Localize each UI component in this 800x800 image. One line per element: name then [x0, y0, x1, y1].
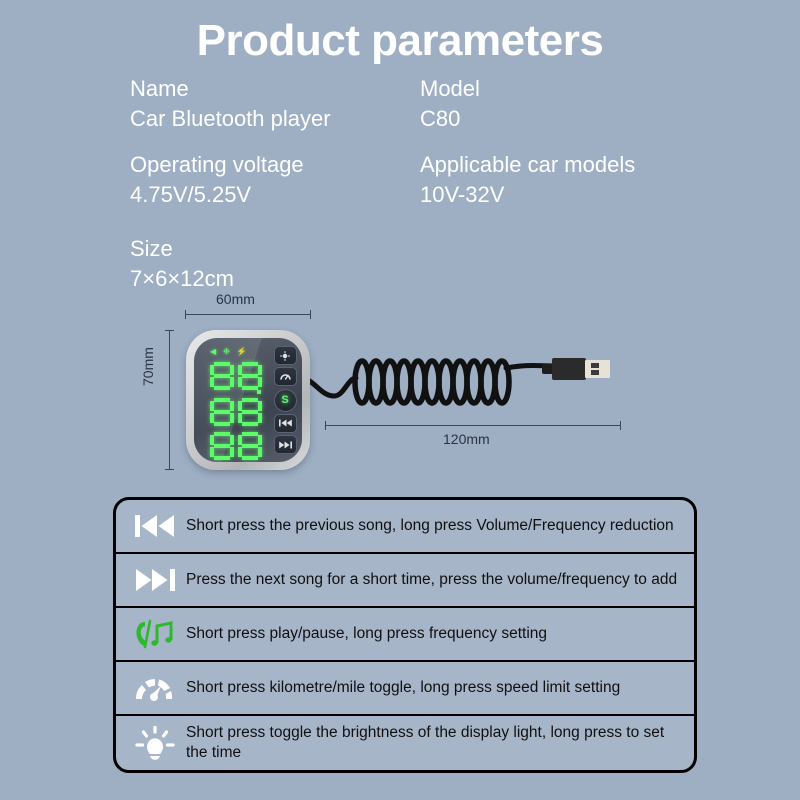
- spec-cell-car-models: Applicable car models 10V-32V: [420, 150, 710, 210]
- spec-value: 10V-32V: [420, 180, 710, 210]
- instruction-row: Press the next song for a short time, pr…: [116, 554, 694, 608]
- lcd-row-1: [210, 362, 262, 390]
- speedometer-icon: [280, 372, 291, 381]
- width-dimension-cap-right: [310, 310, 311, 319]
- device-brightness-button[interactable]: [274, 346, 297, 365]
- device-button-column: S: [272, 346, 298, 454]
- indicator-battery-icon: ⚡: [237, 348, 247, 356]
- width-dimension-cap-left: [185, 310, 186, 319]
- device-previous-button[interactable]: [274, 414, 297, 433]
- spec-row: Operating voltage 4.75V/5.25V Applicable…: [130, 150, 710, 210]
- screen-indicators: ◀ ❉ ⚡: [210, 348, 247, 356]
- lcd-digit: [210, 362, 234, 390]
- device-face: ◀ ❉ ⚡: [194, 338, 302, 462]
- previous-track-icon: [279, 419, 292, 427]
- instruction-text: Short press kilometre/mile toggle, long …: [184, 678, 620, 698]
- usb-slot-upper: [591, 363, 599, 368]
- size-block: Size 7×6×12cm: [130, 234, 234, 294]
- instruction-text: Short press play/pause, long press frequ…: [184, 624, 547, 644]
- width-dimension-line: [185, 314, 311, 315]
- brightness-bulb-icon: [126, 723, 184, 763]
- call-music-icon: [126, 614, 184, 654]
- speedometer-icon: [126, 668, 184, 708]
- next-track-icon: [126, 560, 184, 600]
- lcd-row-3: [210, 432, 262, 460]
- lcd-screen: ◀ ❉ ⚡: [200, 344, 270, 456]
- lcd-digit: [238, 398, 262, 426]
- device-play-pause-button[interactable]: S: [274, 389, 297, 412]
- instruction-row: Short press kilometre/mile toggle, long …: [116, 662, 694, 716]
- indicator-fan-icon: ❉: [223, 348, 230, 356]
- height-dimension-cap-bottom: [165, 469, 174, 470]
- spec-cell-voltage: Operating voltage 4.75V/5.25V: [130, 150, 420, 210]
- size-value: 7×6×12cm: [130, 264, 234, 294]
- lcd-digit: [238, 362, 262, 390]
- spec-value: C80: [420, 104, 710, 134]
- instruction-row: Short press the previous song, long pres…: [116, 500, 694, 554]
- spec-label: Model: [420, 74, 710, 104]
- lcd-digit: [238, 432, 262, 460]
- previous-track-icon: [126, 506, 184, 546]
- instruction-text: Short press the previous song, long pres…: [184, 516, 674, 536]
- height-dimension-line: [169, 330, 170, 470]
- spec-label: Applicable car models: [420, 150, 710, 180]
- instruction-row: Short press play/pause, long press frequ…: [116, 608, 694, 662]
- usb-a-connector: [552, 358, 610, 380]
- instruction-row: Short press toggle the brightness of the…: [116, 716, 694, 770]
- device-body: ◀ ❉ ⚡: [186, 330, 310, 470]
- size-label: Size: [130, 234, 234, 264]
- usb-housing: [552, 358, 586, 380]
- brightness-icon: [280, 351, 290, 361]
- spec-row: Name Car Bluetooth player Model C80: [130, 74, 710, 134]
- lcd-digit: [210, 398, 234, 426]
- spec-cell-name: Name Car Bluetooth player: [130, 74, 420, 134]
- instruction-text: Press the next song for a short time, pr…: [184, 570, 677, 590]
- device-next-button[interactable]: [274, 435, 297, 454]
- spec-value: Car Bluetooth player: [130, 104, 420, 134]
- lcd-digit: [210, 432, 234, 460]
- spec-cell-model: Model C80: [420, 74, 710, 134]
- usb-metal-tip: [585, 360, 610, 378]
- spec-label: Operating voltage: [130, 150, 420, 180]
- usb-slot-lower: [591, 370, 599, 375]
- spec-label: Name: [130, 74, 420, 104]
- coiled-cable: [300, 352, 570, 432]
- spec-grid: Name Car Bluetooth player Model C80 Oper…: [130, 74, 710, 226]
- device-speed-button[interactable]: [274, 367, 297, 386]
- cable-dimension-label: 120mm: [443, 431, 490, 447]
- instruction-text: Short press toggle the brightness of the…: [184, 723, 688, 763]
- page-title: Product parameters: [0, 16, 800, 66]
- next-track-icon: [279, 441, 292, 449]
- lcd-row-2: [210, 398, 262, 426]
- height-dimension-label: 70mm: [140, 347, 156, 386]
- lcd-decimal-dot: [257, 390, 261, 394]
- instructions-panel: Short press the previous song, long pres…: [113, 497, 697, 773]
- cable-dimension-cap-right: [620, 421, 621, 430]
- indicator-bluetooth-icon: ◀: [210, 348, 216, 356]
- spec-value: 4.75V/5.25V: [130, 180, 420, 210]
- height-dimension-cap-top: [165, 330, 174, 331]
